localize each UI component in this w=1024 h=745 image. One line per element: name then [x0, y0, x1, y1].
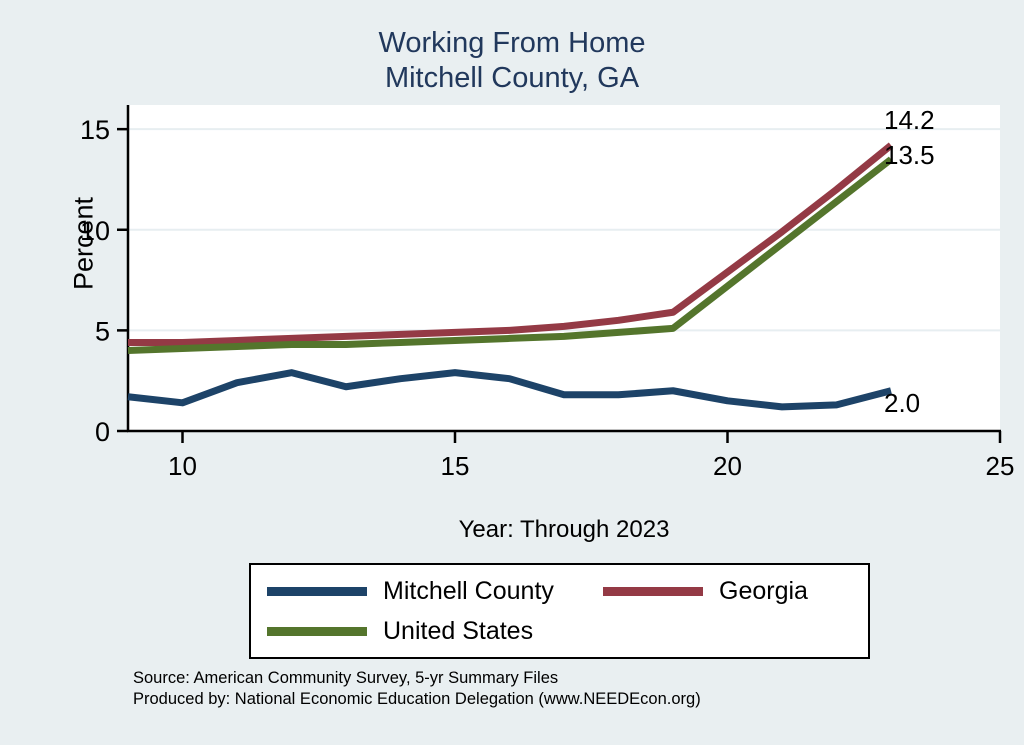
y-axis-title: Percent	[69, 154, 100, 334]
legend-item-united-states[interactable]: United States	[267, 617, 533, 646]
footer-producer: Produced by: National Economic Education…	[133, 689, 701, 710]
legend-label-mitchell-county: Mitchell County	[383, 577, 554, 606]
footer-note: Source: American Community Survey, 5-yr …	[133, 668, 701, 710]
y-tick-label: 0	[95, 417, 110, 447]
legend: Mitchell County United States Georgia	[249, 563, 870, 659]
end-label-united-states: 13.5	[884, 140, 935, 171]
legend-swatch-united-states	[267, 627, 367, 636]
legend-item-mitchell-county[interactable]: Mitchell County	[267, 577, 554, 606]
legend-swatch-georgia	[603, 587, 703, 596]
footer-source: Source: American Community Survey, 5-yr …	[133, 668, 701, 689]
legend-label-united-states: United States	[383, 617, 533, 646]
chart-canvas: Working From Home Mitchell County, GA 05…	[0, 0, 1024, 745]
plot-area: 05101510152025	[0, 0, 1024, 500]
x-tick-label: 15	[441, 451, 470, 481]
end-label-georgia: 14.2	[884, 105, 935, 136]
x-tick-label: 20	[713, 451, 742, 481]
x-tick-label: 10	[168, 451, 197, 481]
legend-label-georgia: Georgia	[719, 577, 808, 606]
x-axis-title: Year: Through 2023	[128, 516, 1000, 544]
legend-item-georgia[interactable]: Georgia	[603, 577, 808, 606]
end-label-mitchell-county: 2.0	[884, 388, 920, 419]
x-tick-label: 25	[986, 451, 1015, 481]
y-tick-label: 15	[80, 115, 110, 145]
legend-swatch-mitchell-county	[267, 587, 367, 596]
